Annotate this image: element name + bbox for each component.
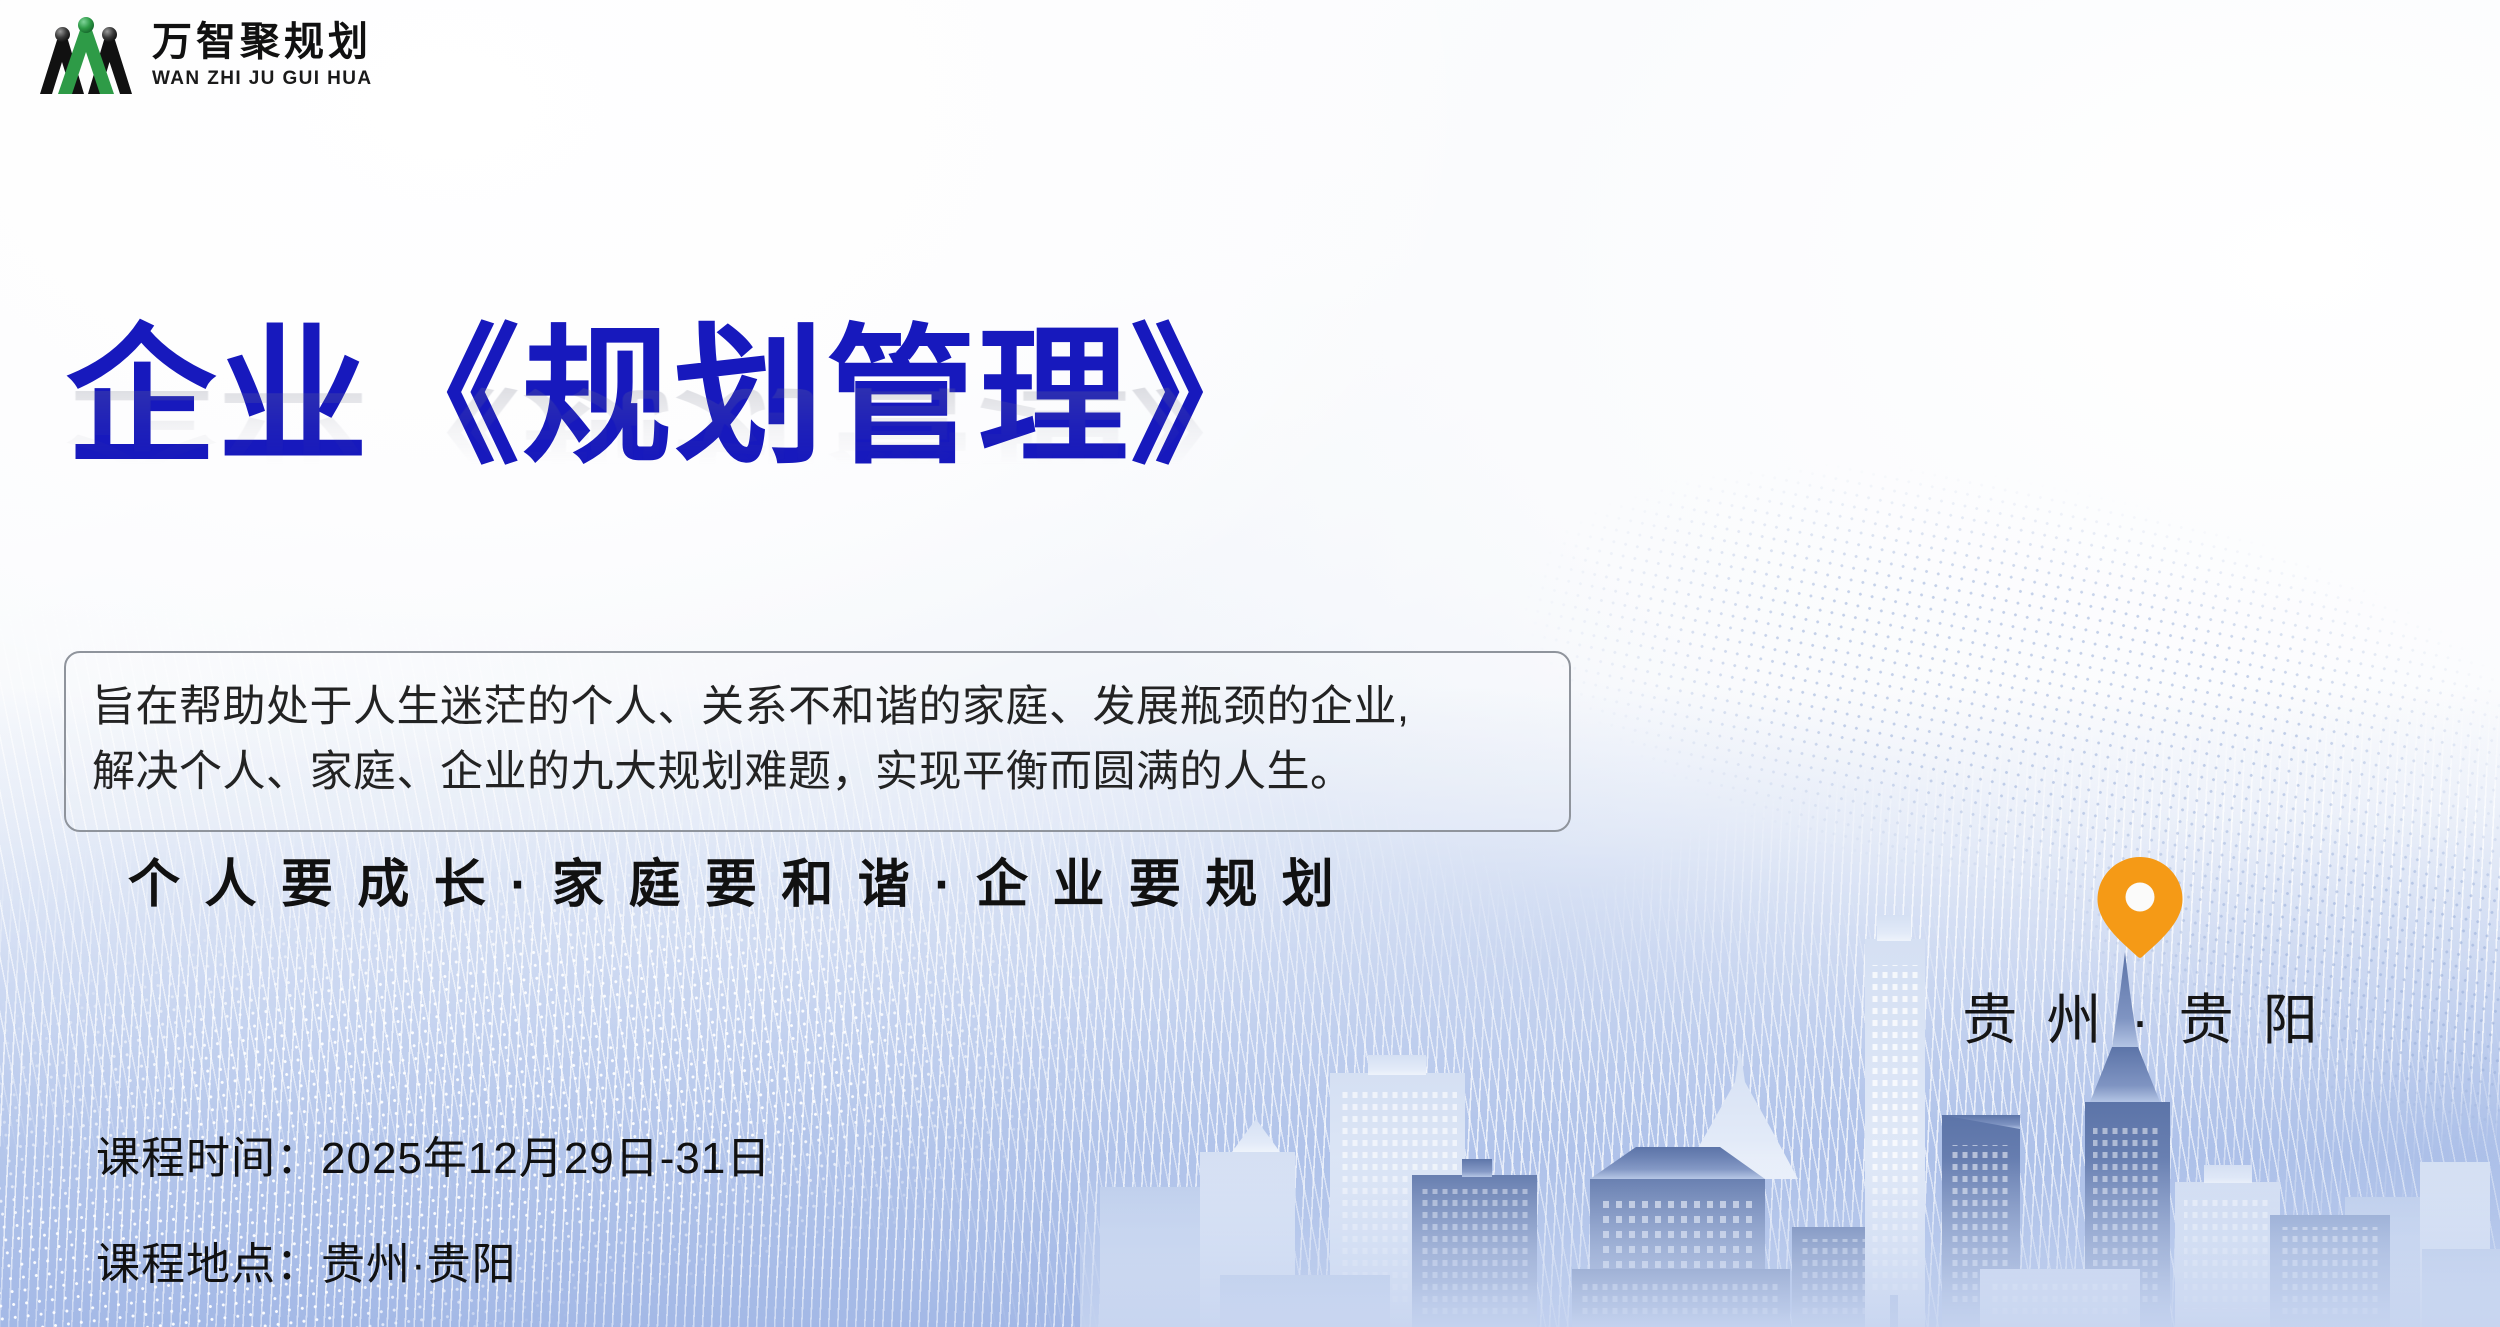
- description-line-2: 解决个人、家庭、企业的九大规划难题，实现平衡而圆满的人生。: [92, 740, 1543, 805]
- course-time: 课程时间：2025年12月29日-31日: [96, 1122, 771, 1186]
- hero-title-block: 企业《规划管理》 企业《规划管理》: [66, 322, 1626, 626]
- three-people-logo-icon: [32, 16, 140, 94]
- brand-name-cn: 万智聚规划: [152, 22, 372, 62]
- description-box: 旨在帮助处于人生迷茫的个人、关系不和谐的家庭、发展瓶颈的企业, 解决个人、家庭、…: [64, 651, 1571, 832]
- tagline: 个 人 要 成 长 · 家 庭 要 和 谐 · 企 业 要 规 划: [128, 842, 1339, 917]
- brand-text: 万智聚规划 WAN ZHI JU GUI HUA: [152, 22, 372, 88]
- poster-canvas: 万智聚规划 WAN ZHI JU GUI HUA 企业《规划管理》 企业《规划管…: [0, 0, 2500, 1327]
- page-title-reflection: 企业《规划管理》: [66, 383, 1626, 476]
- brand-name-en: WAN ZHI JU GUI HUA: [152, 69, 372, 88]
- course-place: 课程地点：贵州·贵阳: [96, 1228, 771, 1292]
- description-line-1: 旨在帮助处于人生迷茫的个人、关系不和谐的家庭、发展瓶颈的企业,: [92, 675, 1543, 740]
- location-label: 贵 州 · 贵 阳: [1955, 975, 2324, 1055]
- location-badge: 贵 州 · 贵 阳: [1960, 855, 2320, 1055]
- map-pin-icon: [2095, 855, 2185, 959]
- brand-logo[interactable]: 万智聚规划 WAN ZHI JU GUI HUA: [32, 16, 372, 94]
- course-info-block: 课程时间：2025年12月29日-31日 课程地点：贵州·贵阳: [96, 1122, 771, 1292]
